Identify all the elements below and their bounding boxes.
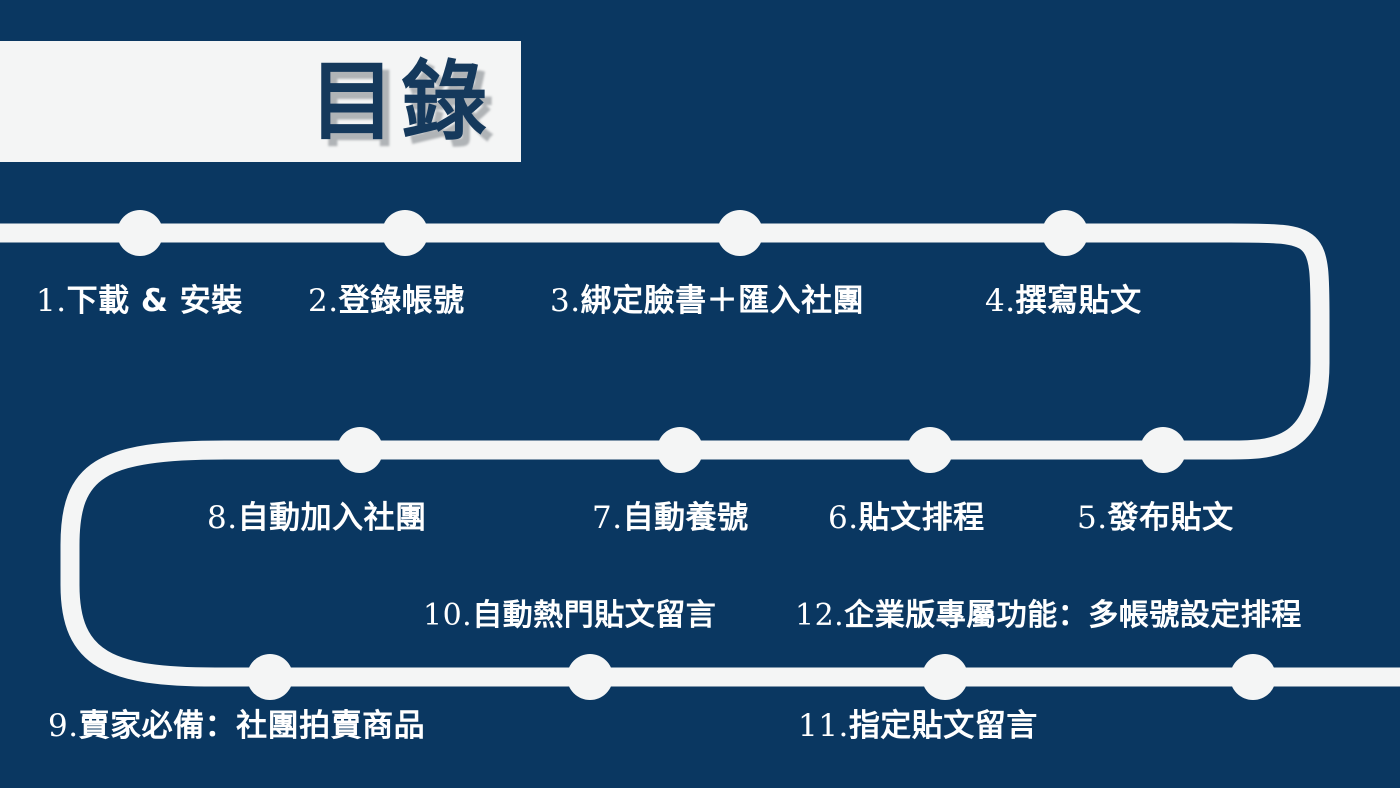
toc-item-6-label: 貼文排程: [859, 500, 985, 536]
toc-item-11[interactable]: 11.指定貼文留言: [798, 700, 1038, 745]
toc-item-7[interactable]: 7.自動養號: [592, 492, 749, 537]
toc-item-11-number: 11.: [798, 708, 849, 744]
toc-item-10-label: 自動熱門貼文留言: [472, 598, 716, 633]
toc-item-10-number: 10.: [423, 598, 472, 633]
toc-item-11-label: 指定貼文留言: [849, 708, 1038, 744]
toc-item-4-number: 4.: [985, 283, 1016, 319]
timeline-node-11[interactable]: [922, 654, 968, 700]
toc-item-1[interactable]: 1.下載 & 安裝: [36, 275, 243, 320]
toc-item-5-number: 5.: [1077, 500, 1108, 536]
toc-item-4[interactable]: 4.撰寫貼文: [985, 275, 1142, 320]
timeline-node-4[interactable]: [1042, 210, 1088, 256]
toc-item-2-number: 2.: [308, 283, 339, 319]
toc-item-8-label: 自動加入社團: [238, 500, 427, 536]
toc-item-3-label: 綁定臉書＋匯入社團: [581, 283, 865, 319]
timeline-node-12[interactable]: [1230, 654, 1276, 700]
toc-item-1-label: 下載 & 安裝: [67, 283, 243, 319]
toc-item-9-number: 9.: [48, 708, 79, 744]
toc-item-7-number: 7.: [592, 500, 623, 536]
toc-item-8[interactable]: 8.自動加入社團: [207, 492, 427, 537]
timeline-node-10[interactable]: [567, 654, 613, 700]
timeline-node-7[interactable]: [657, 427, 703, 473]
timeline-node-2[interactable]: [382, 210, 428, 256]
page-title: 目錄: [309, 59, 493, 145]
toc-item-6-number: 6.: [828, 500, 859, 536]
toc-item-10[interactable]: 10.自動熱門貼文留言: [423, 590, 716, 634]
toc-item-12-label: 企業版專屬功能：多帳號設定排程: [844, 598, 1302, 633]
toc-item-2[interactable]: 2.登錄帳號: [308, 275, 465, 320]
toc-item-2-label: 登錄帳號: [339, 283, 465, 319]
toc-item-3[interactable]: 3.綁定臉書＋匯入社團: [550, 275, 864, 320]
toc-item-9-label: 賣家必備：社團拍賣商品: [79, 708, 426, 744]
toc-item-8-number: 8.: [207, 500, 238, 536]
toc-item-3-number: 3.: [550, 283, 581, 319]
title-banner: 目錄: [0, 41, 521, 162]
toc-item-4-label: 撰寫貼文: [1016, 283, 1142, 319]
toc-item-6[interactable]: 6.貼文排程: [828, 492, 985, 537]
timeline-node-6[interactable]: [907, 427, 953, 473]
timeline-node-1[interactable]: [117, 210, 163, 256]
toc-item-5-label: 發布貼文: [1108, 500, 1234, 536]
timeline-node-9[interactable]: [247, 654, 293, 700]
toc-item-5[interactable]: 5.發布貼文: [1077, 492, 1234, 537]
toc-item-12[interactable]: 12.企業版專屬功能：多帳號設定排程: [795, 590, 1302, 634]
toc-item-1-number: 1.: [36, 283, 67, 319]
toc-item-7-label: 自動養號: [623, 500, 749, 536]
timeline-node-8[interactable]: [337, 427, 383, 473]
timeline-node-5[interactable]: [1140, 427, 1186, 473]
timeline-node-3[interactable]: [717, 210, 763, 256]
slide-canvas: 目錄 1.下載 & 安裝 2.登錄帳號 3.綁定臉書＋匯入社團 4.撰寫貼文 8…: [0, 0, 1400, 788]
toc-item-9[interactable]: 9.賣家必備：社團拍賣商品: [48, 700, 425, 745]
toc-item-12-number: 12.: [795, 598, 844, 633]
